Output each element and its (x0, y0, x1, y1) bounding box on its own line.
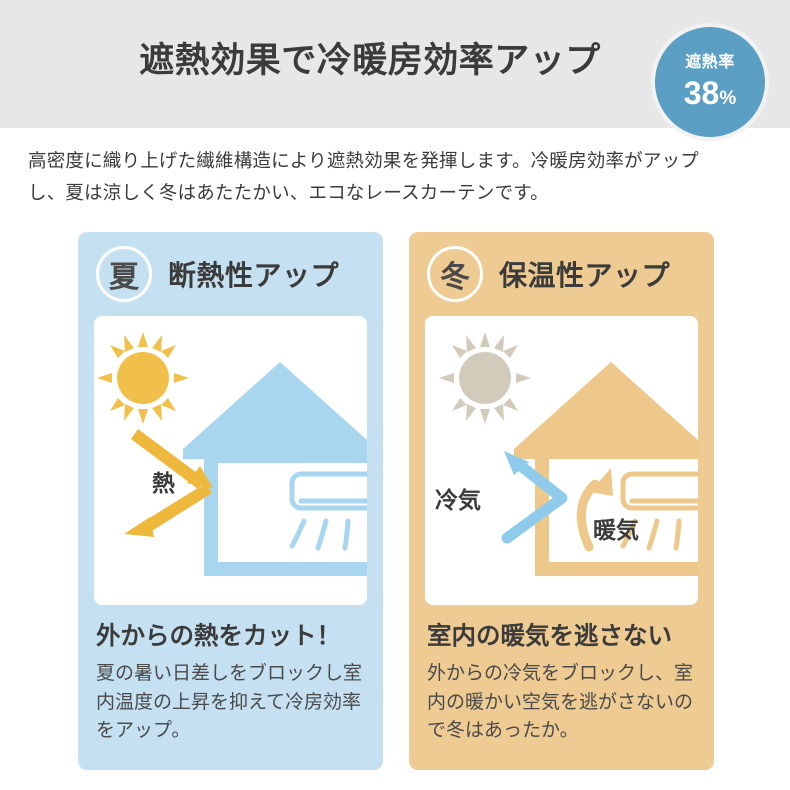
cold-air-arrow (507, 463, 562, 538)
season-badge-winter: 冬 (427, 246, 483, 302)
panel-summer-foot-body: 夏の暑い日差しをブロックし室内温度の上昇を抑えて冷房効率をアップ。 (96, 660, 371, 744)
heat-flow-label: 熱 (152, 470, 175, 496)
illustration-card-summer: 熱 (94, 316, 367, 605)
header-band: 遮熱効果で冷暖房効率アップ 遮熱率 38% (0, 0, 790, 128)
panel-summer-footer: 外からの熱をカット！ 夏の暑い日差しをブロックし室内温度の上昇を抑えて冷房効率を… (96, 622, 371, 745)
illustration-card-winter: 冷気 暖気 (425, 316, 698, 605)
badge-label: 遮熱率 (685, 55, 735, 71)
badge-unit: % (719, 88, 736, 109)
cold-air-label: 冷気 (435, 487, 481, 513)
panel-summer-headline: 断熱性アップ (168, 254, 339, 294)
season-badge-summer: 夏 (96, 246, 152, 302)
air-conditioner-icon (292, 474, 367, 548)
description-text: 高密度に織り上げた繊維構造により遮熱効果を発揮します。冷暖房効率がアップし、夏は… (28, 145, 728, 209)
panel-winter-footer: 室内の暖気を逃さない 外からの冷気をブロックし、室内の暖かい空気を逃がさないので… (427, 622, 702, 745)
panel-summer-header: 夏 断熱性アップ (78, 232, 383, 316)
badge-number: 38 (684, 75, 720, 111)
panel-winter-foot-body: 外からの冷気をブロックし、室内の暖かい空気を逃がさないので冬はあったか。 (427, 660, 702, 744)
panel-winter: 冬 保温性アップ (409, 232, 714, 770)
sun-icon (439, 332, 531, 424)
panel-summer-foot-title: 外からの熱をカット！ (96, 622, 371, 651)
winter-illustration: 冷気 暖気 (425, 316, 698, 605)
panel-summer: 夏 断熱性アップ (78, 232, 383, 770)
panel-winter-foot-title: 室内の暖気を逃さない (427, 622, 702, 651)
house-icon (514, 362, 698, 576)
page-title: 遮熱効果で冷暖房効率アップ (0, 42, 740, 81)
panel-winter-header: 冬 保温性アップ (409, 232, 714, 316)
house-icon (183, 362, 367, 576)
badge-value: 38% (684, 77, 737, 109)
warm-air-label: 暖気 (593, 517, 639, 543)
sun-icon (97, 332, 189, 424)
summer-illustration: 熱 (94, 316, 367, 605)
panel-winter-headline: 保温性アップ (499, 254, 670, 294)
status-badge: 遮熱率 38% (651, 23, 769, 141)
